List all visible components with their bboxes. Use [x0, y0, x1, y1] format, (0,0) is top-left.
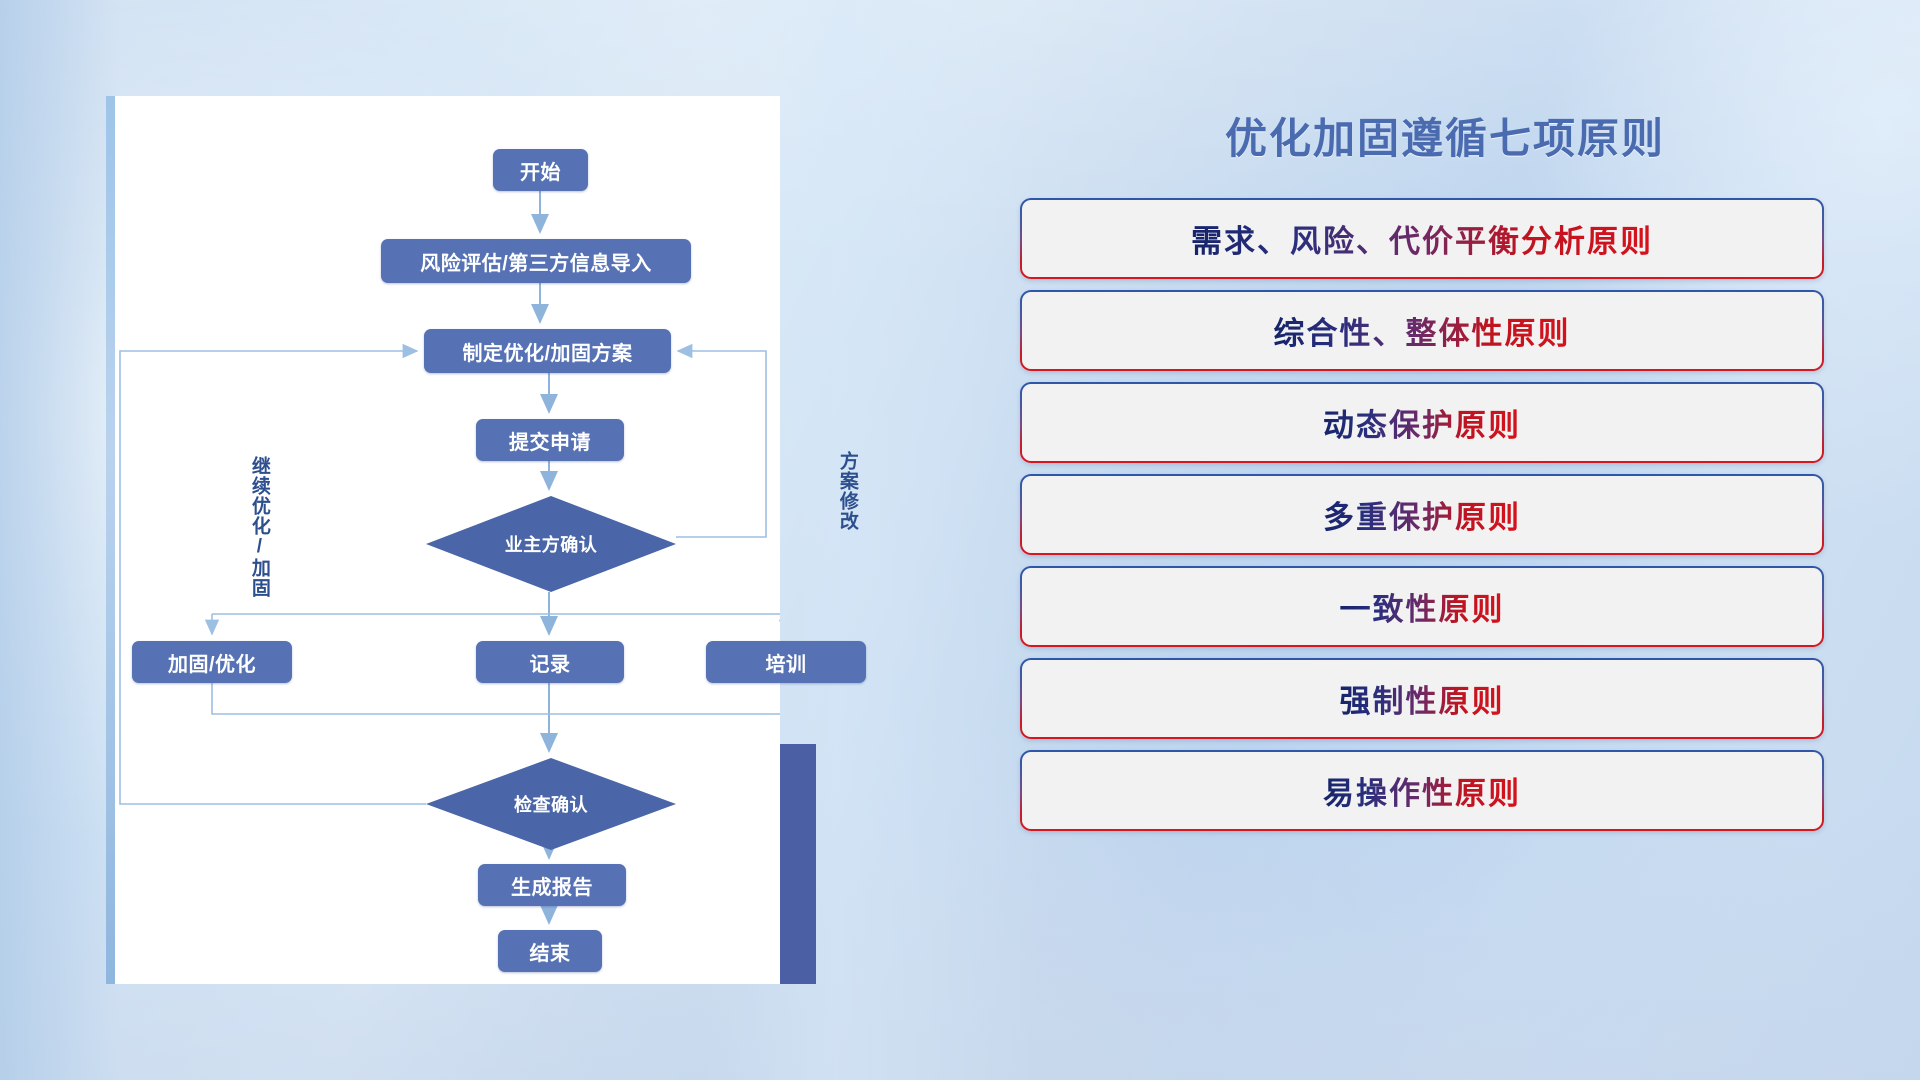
principle-card-4[interactable]: 多重保护原则 [1020, 474, 1824, 555]
flow-node-label: 制定优化/加固方案 [462, 337, 632, 366]
flow-node-label: 记录 [530, 648, 571, 677]
flow-node-label: 提交申请 [509, 426, 591, 455]
flow-node-training[interactable]: 培训 [706, 641, 866, 683]
principle-card-3[interactable]: 动态保护原则 [1020, 382, 1824, 463]
flow-node-end[interactable]: 结束 [498, 930, 602, 972]
flow-node-record[interactable]: 记录 [476, 641, 624, 683]
principle-label: 一致性原则 [1340, 584, 1505, 629]
flow-node-start[interactable]: 开始 [493, 149, 588, 191]
flow-node-report[interactable]: 生成报告 [478, 864, 626, 906]
flowchart-accent-bar [106, 96, 115, 984]
principle-label: 多重保护原则 [1323, 492, 1521, 537]
flow-node-label: 培训 [766, 648, 807, 677]
flowchart-card: 开始风险评估/第三方信息导入制定优化/加固方案提交申请业主方确认加固/优化记录培… [106, 96, 780, 984]
flow-edge-label-right-loop: 方案修改 [836, 451, 857, 531]
flow-node-owner[interactable]: 业主方确认 [426, 496, 676, 592]
flow-node-label: 结束 [530, 937, 571, 966]
flow-node-label: 生成报告 [511, 871, 593, 900]
principle-label: 需求、风险、代价平衡分析原则 [1191, 216, 1653, 261]
flow-node-label: 风险评估/第三方信息导入 [420, 247, 652, 276]
principle-card-6[interactable]: 强制性原则 [1020, 658, 1824, 739]
background-left-streak [0, 0, 120, 1080]
panel-title: 优化加固遵循七项原则 [1135, 105, 1755, 166]
flow-node-plan[interactable]: 制定优化/加固方案 [424, 329, 671, 373]
flow-node-reinforce[interactable]: 加固/优化 [132, 641, 292, 683]
flow-node-label: 开始 [520, 156, 561, 185]
flow-node-check[interactable]: 检查确认 [426, 758, 676, 850]
principle-card-2[interactable]: 综合性、整体性原则 [1020, 290, 1824, 371]
flow-edge-label-left-loop: 继续优化/加固 [248, 456, 269, 598]
flow-node-label: 业主方确认 [505, 531, 598, 557]
principle-label: 综合性、整体性原则 [1274, 308, 1571, 353]
principle-label: 动态保护原则 [1323, 400, 1521, 445]
flow-node-submit[interactable]: 提交申请 [476, 419, 624, 461]
principle-card-5[interactable]: 一致性原则 [1020, 566, 1824, 647]
principle-card-7[interactable]: 易操作性原则 [1020, 750, 1824, 831]
flow-node-risk[interactable]: 风险评估/第三方信息导入 [381, 239, 691, 283]
principles-panel: 优化加固遵循七项原则 需求、风险、代价平衡分析原则综合性、整体性原则动态保护原则… [1020, 80, 1840, 1020]
flow-node-label: 检查确认 [514, 791, 588, 817]
flow-node-label: 加固/优化 [168, 648, 256, 677]
principle-label: 强制性原则 [1340, 676, 1505, 721]
principle-card-1[interactable]: 需求、风险、代价平衡分析原则 [1020, 198, 1824, 279]
principle-label: 易操作性原则 [1323, 768, 1521, 813]
